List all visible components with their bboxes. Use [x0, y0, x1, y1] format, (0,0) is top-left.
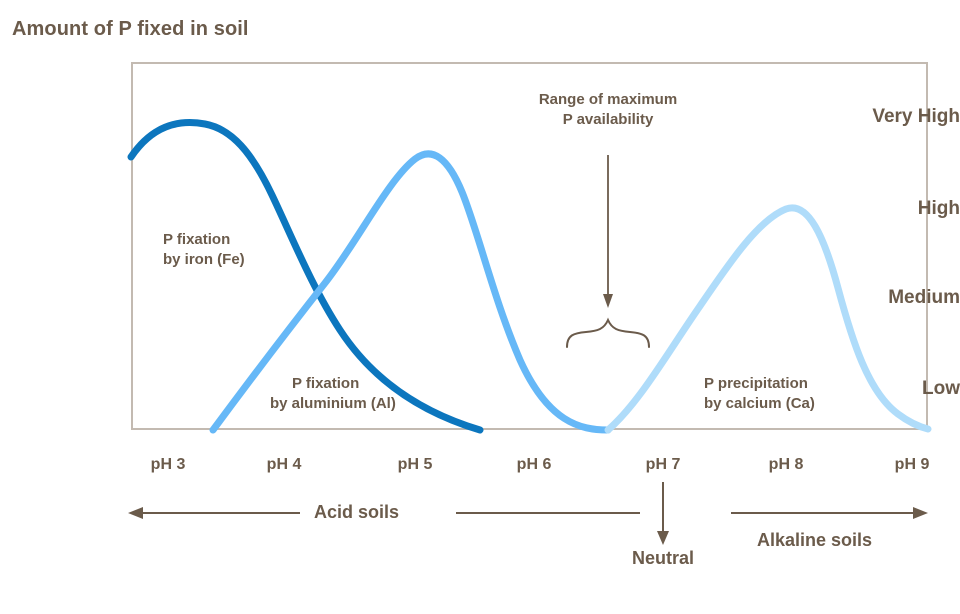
x-tick-ph3: pH 3 — [151, 456, 186, 474]
chart-root: Amount of P fixed in soil Very High High… — [0, 0, 960, 614]
acid-soils-label: Acid soils — [314, 502, 399, 523]
x-tick-ph7: pH 7 — [646, 456, 681, 474]
neutral-label: Neutral — [632, 548, 694, 569]
alkaline-soils-arrow-head — [913, 507, 928, 519]
x-tick-ph6: pH 6 — [517, 456, 552, 474]
series-label-aluminium: P fixation by aluminium (Al) — [292, 374, 396, 415]
max-availability-brace-icon — [567, 320, 649, 347]
max-availability-line1: Range of maximum — [539, 90, 677, 110]
series-label-calcium-line2: by calcium (Ca) — [704, 394, 815, 414]
max-availability-annotation: Range of maximum P availability — [539, 90, 677, 131]
series-label-iron-line2: by iron (Fe) — [163, 250, 245, 270]
x-tick-ph9: pH 9 — [895, 456, 930, 474]
series-label-calcium-line1: P precipitation — [704, 374, 815, 394]
neutral-arrow-head — [657, 531, 669, 545]
x-tick-ph8: pH 8 — [769, 456, 804, 474]
chart-canvas — [0, 0, 960, 614]
series-label-iron: P fixation by iron (Fe) — [163, 230, 245, 271]
max-availability-line2: P availability — [539, 110, 677, 130]
series-label-calcium: P precipitation by calcium (Ca) — [704, 374, 815, 415]
series-label-aluminium-line1: P fixation — [292, 374, 396, 394]
max-availability-arrow-head — [603, 294, 613, 308]
x-tick-ph4: pH 4 — [267, 456, 302, 474]
series-label-aluminium-line2: by aluminium (Al) — [270, 394, 396, 414]
x-tick-ph5: pH 5 — [398, 456, 433, 474]
series-label-iron-line1: P fixation — [163, 230, 245, 250]
acid-soils-arrow-head — [128, 507, 143, 519]
alkaline-soils-label: Alkaline soils — [757, 530, 872, 551]
